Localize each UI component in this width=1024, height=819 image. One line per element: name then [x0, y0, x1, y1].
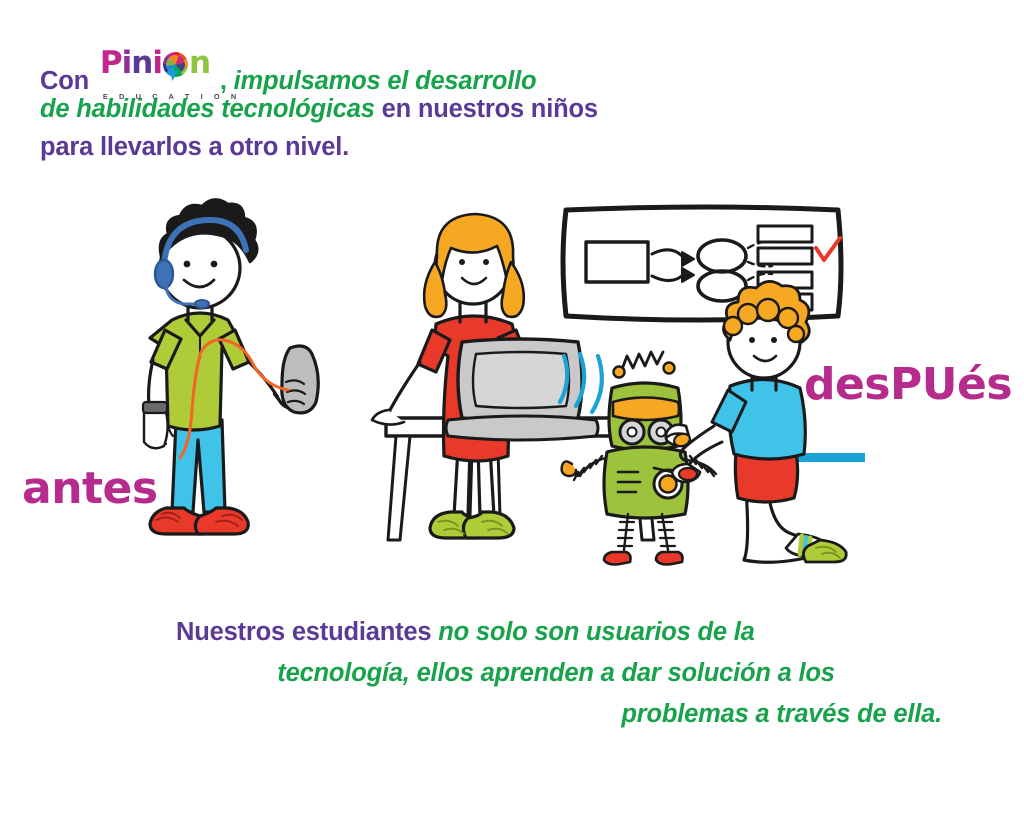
headline-bold-2: en nuestros niños — [382, 95, 598, 123]
boy-building-robot — [654, 281, 846, 562]
headline-italic-1: impulsamos el desarrollo — [234, 67, 537, 95]
logo-tagline: E D U C A T I O N — [103, 81, 241, 113]
logo-letter-n2: n — [189, 48, 210, 79]
pinion-logo: Pinin E D U C A T I O N — [100, 55, 218, 95]
illustration — [0, 190, 1024, 570]
computer-monitor — [446, 339, 598, 440]
headline: Con Pinin E D U C A T I O N , impulsamos… — [40, 55, 800, 163]
poster-canvas: Con Pinin E D U C A T I O N , impulsamos… — [0, 0, 1024, 819]
boy-with-headphones — [143, 199, 318, 534]
logo-letter-p: P — [100, 48, 122, 79]
footer-italic-3: problemas a través de ella. — [621, 700, 942, 728]
logo-puzzle-bubble-icon — [163, 52, 188, 77]
footer-bold: Nuestros estudiantes — [176, 618, 431, 646]
headline-bold-3: para llevarlos a otro nivel. — [40, 133, 349, 161]
footer-line-2: tecnología, ellos aprenden a dar solució… — [170, 653, 942, 694]
headline-line-3: para llevarlos a otro nivel. — [40, 131, 800, 163]
footer-text: Nuestros estudiantes no solo son usuario… — [170, 612, 942, 735]
logo-letter-i1: i — [122, 48, 132, 79]
logo-letter-i2: i — [152, 48, 162, 79]
footer-line-1: Nuestros estudiantes no solo son usuario… — [170, 612, 942, 653]
pinion-wordmark: Pinin — [100, 48, 210, 79]
footer-italic-1: no solo son usuarios de la — [438, 618, 754, 646]
headline-con: Con — [40, 67, 89, 95]
footer-line-3: problemas a través de ella. — [170, 694, 942, 735]
logo-letter-n1: n — [131, 48, 152, 79]
footer-italic-2: tecnología, ellos aprenden a dar solució… — [277, 659, 834, 687]
headline-line-1: Con Pinin E D U C A T I O N , impulsamos… — [40, 55, 800, 87]
